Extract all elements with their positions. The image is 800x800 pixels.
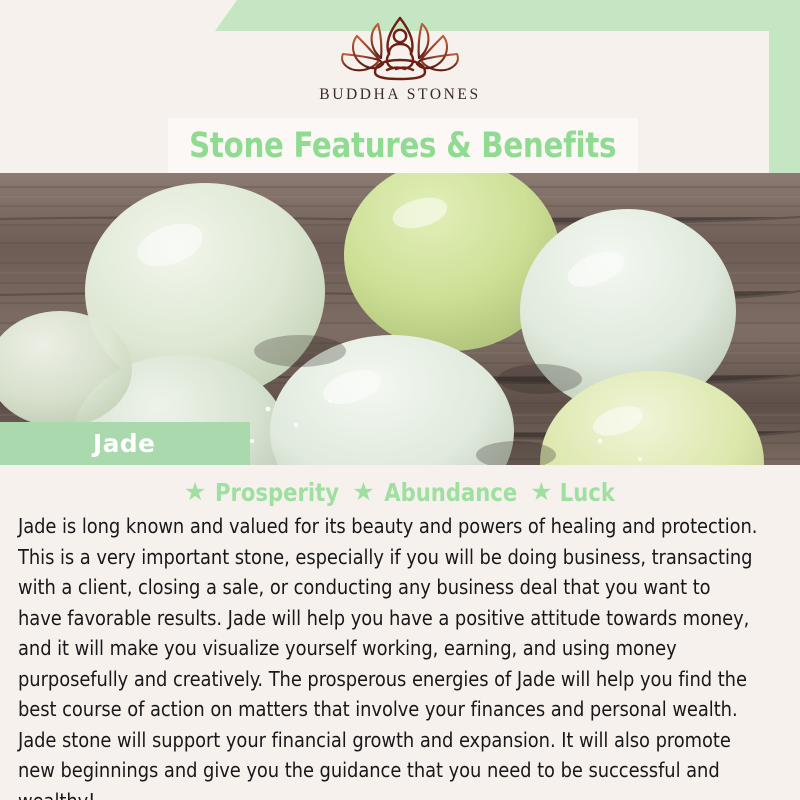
stone-name-label: Jade <box>93 429 155 458</box>
content-area: ★ Prosperity ★ Abundance ★ Luck Jade is … <box>0 465 800 800</box>
page-title: Stone Features & Benefits <box>189 126 616 166</box>
lotus-meditation-icon <box>325 14 475 82</box>
stone-description: Jade is long known and valued for its be… <box>18 511 759 800</box>
star-icon: ★ <box>530 480 552 505</box>
benefits-list: ★ Prosperity ★ Abundance ★ Luck <box>0 478 800 507</box>
star-icon: ★ <box>184 480 206 505</box>
benefit-label: Abundance <box>384 478 517 507</box>
benefit-item-abundance: ★ Abundance <box>352 478 521 507</box>
benefit-item-prosperity: ★ Prosperity <box>184 478 343 507</box>
stone-info-card: BUDDHA STONES Stone Features & Benefits <box>0 0 800 800</box>
brand-name: BUDDHA STONES <box>319 86 480 104</box>
stone-name-band: Jade <box>0 422 250 465</box>
benefit-item-luck: ★ Luck <box>530 478 616 507</box>
benefit-label: Prosperity <box>215 478 339 507</box>
title-banner: Stone Features & Benefits <box>168 118 638 173</box>
benefit-label: Luck <box>559 478 614 507</box>
star-icon: ★ <box>352 480 374 505</box>
brand-header: BUDDHA STONES <box>0 0 800 118</box>
